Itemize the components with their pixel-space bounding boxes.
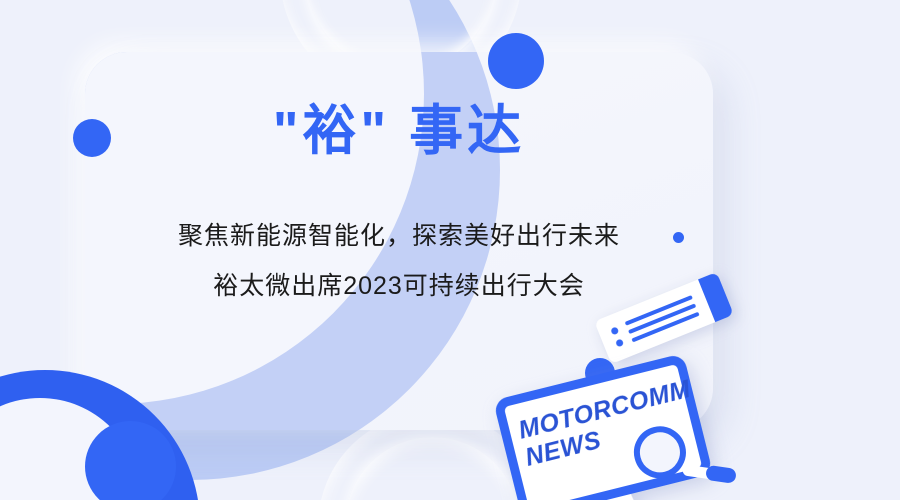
- poster-canvas: "裕" 事达 聚焦新能源智能化，探索美好出行未来 裕太微出席2023可持续出行大…: [0, 0, 900, 500]
- emboss-ring-bottom: [345, 437, 520, 500]
- magnifier-handle-tip: [705, 465, 737, 484]
- subtitle-line-2: 裕太微出席2023可持续出行大会: [85, 274, 713, 299]
- accent-dot-inline: [673, 232, 684, 243]
- accent-dot-top-right: [488, 33, 544, 89]
- top-left-blue-wedge-fill: [0, 0, 230, 50]
- magnifier-lens: [628, 421, 691, 484]
- accent-dot-left-middle: [73, 119, 111, 157]
- subtitle-line-1: 聚焦新能源智能化，探索美好出行未来: [85, 224, 713, 249]
- page-title: "裕" 事达: [85, 104, 713, 158]
- bottom-left-blue-circle: [85, 421, 176, 500]
